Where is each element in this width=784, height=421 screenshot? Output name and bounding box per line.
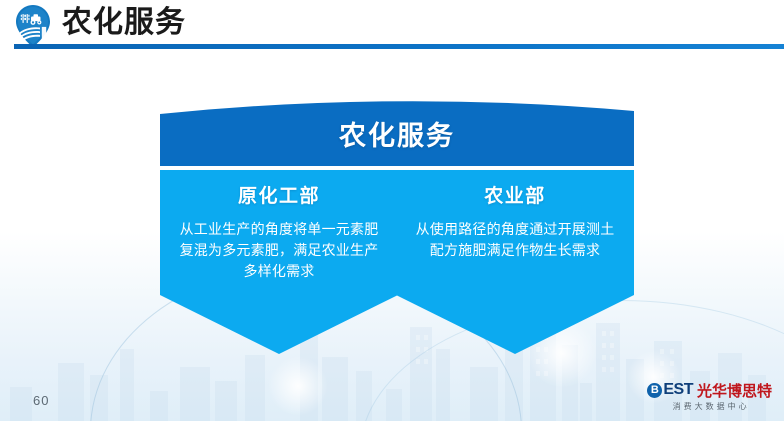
node-content-left: 原化工部 从工业生产的角度将单一元素肥复混为多元素肥，满足农业生产多样化需求 [160, 170, 398, 320]
brand-b-mark-icon: B [647, 383, 662, 398]
brand-tagline: 消费大数据中心 [673, 401, 750, 412]
node-title: 原化工部 [160, 184, 398, 210]
brand-name-cn: 光华博思特 [697, 380, 772, 401]
brand-name: EST [663, 381, 693, 399]
banner-label: 农化服务 [160, 116, 634, 156]
page-number: 60 [33, 393, 49, 408]
node-body: 从使用路径的角度通过开展测土配方施肥满足作物生长需求 [396, 219, 634, 261]
node-body: 从工业生产的角度将单一元素肥复混为多元素肥，满足农业生产多样化需求 [160, 219, 398, 282]
brand-logo-top: B EST 光华博思特 [647, 381, 772, 400]
decor-glow-3 [268, 356, 328, 416]
diagram-node-left[interactable]: 原化工部 从工业生产的角度将单一元素肥复混为多元素肥，满足农业生产多样化需求 [160, 170, 398, 354]
header-divider-rule [14, 44, 784, 49]
node-title: 农业部 [396, 184, 634, 210]
slide-header: 农化服务 [0, 0, 784, 48]
page-title: 农化服务 [62, 4, 186, 42]
node-content-right: 农业部 从使用路径的角度通过开展测土配方施肥满足作物生长需求 [396, 170, 634, 320]
diagram-banner[interactable]: 农化服务 [160, 96, 634, 166]
org-diagram: 农化服务 原化工部 从工业生产的角度将单一元素肥复混为多元素肥，满足农业生产多样… [160, 96, 634, 354]
brand-logo: B EST 光华博思特 消费大数据中心 [647, 381, 772, 411]
slide: 农化服务 农化服务 原化工部 从工业生产的角度将单一元素肥复混为多元素肥，满足农… [0, 0, 784, 421]
diagram-node-right[interactable]: 农业部 从使用路径的角度通过开展测土配方施肥满足作物生长需求 [396, 170, 634, 354]
diagram-children: 原化工部 从工业生产的角度将单一元素肥复混为多元素肥，满足农业生产多样化需求 农… [160, 170, 634, 354]
agriculture-location-pin-icon [10, 3, 56, 49]
